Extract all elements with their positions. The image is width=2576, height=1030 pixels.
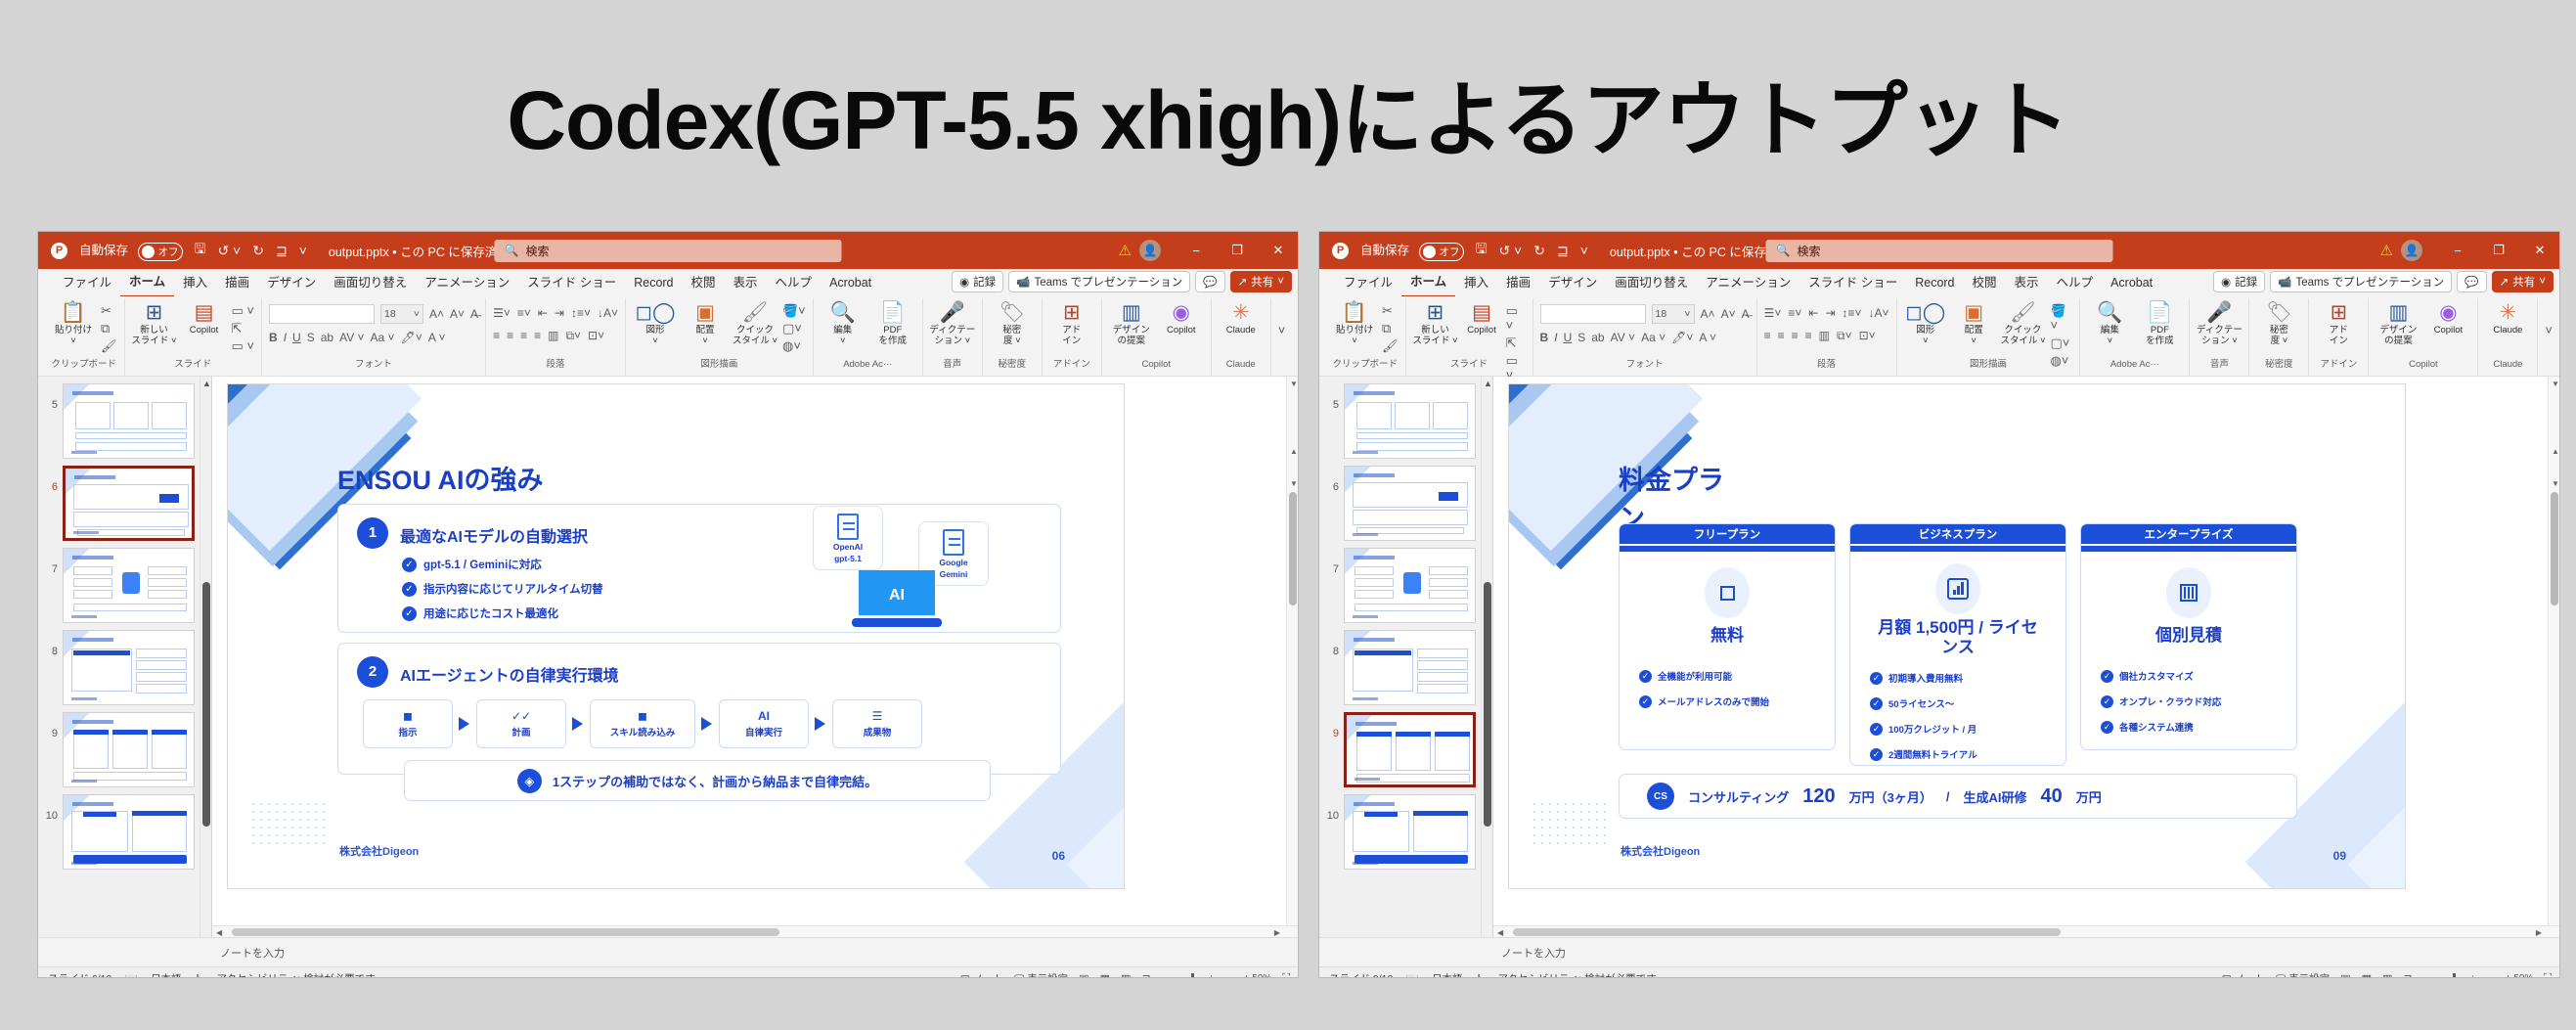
shadow-icon[interactable]: S	[307, 331, 315, 344]
bold-icon[interactable]: B	[269, 331, 278, 344]
scroll-handle[interactable]	[1484, 582, 1491, 827]
autosave-control[interactable]: 自動保存 オフ	[79, 240, 183, 260]
fit-slide-icon[interactable]: ⛶	[2544, 972, 2552, 978]
flow-step[interactable]: ✓✓ 計画	[476, 699, 566, 748]
design-ideas-button[interactable]: ▥ デザイン の提案	[1109, 301, 1154, 346]
autosave-toggle[interactable]: オフ	[1419, 243, 1464, 261]
bullet-text: 指示内容に応じてリアルタイム切替	[423, 581, 603, 597]
tab-acrobat[interactable]: Acrobat	[2102, 269, 2161, 296]
present-icon[interactable]: ⊒	[1557, 243, 1569, 259]
addins-label2: イン	[2330, 336, 2348, 346]
tab-design[interactable]: デザイン	[1539, 269, 1606, 296]
cut-icon[interactable]: ✂	[1382, 303, 1399, 318]
present-icon[interactable]: ⊒	[276, 243, 288, 259]
thumbnail-item[interactable]: 6	[38, 459, 211, 541]
slideshow-icon[interactable]: ⊒	[2403, 972, 2412, 978]
columns-icon[interactable]: ▥	[1819, 329, 1830, 343]
notes-pane-right[interactable]: ノートを入力	[1319, 937, 2559, 966]
shape-effects-icon[interactable]: ◍˅	[2050, 353, 2072, 368]
section-1-bullet[interactable]: ✓ 用途に応じたコスト最適化	[402, 605, 558, 621]
shape-effects-icon[interactable]: ◍˅	[782, 338, 806, 353]
thumbnail-preview[interactable]	[1344, 383, 1476, 459]
paste-button[interactable]: 📋 貼り付け ˅	[1332, 301, 1377, 346]
plan-card-enterprise[interactable]: エンタープライズ 個別見積 ✓ 個社カスタマイズ	[2080, 523, 2297, 750]
plan-feature-text: 個社カスタマイズ	[2119, 669, 2194, 683]
bullets-icon[interactable]: ☰˅	[493, 306, 511, 320]
language-indicator[interactable]: 日本語	[1432, 971, 1463, 978]
avatar[interactable]: 👤	[1139, 240, 1161, 261]
thumbnail-item[interactable]: 8	[1319, 623, 1492, 705]
minimize-button[interactable]: −	[2438, 232, 2477, 269]
scroll-up-icon[interactable]: ▲	[1484, 379, 1492, 388]
search-input[interactable]: 🔍 検索	[1766, 240, 2113, 262]
thumb-box	[152, 402, 187, 429]
align-text-icon[interactable]: ⊡˅	[1859, 329, 1876, 343]
paste-button[interactable]: 📋 貼り付け ˅	[51, 301, 96, 346]
text-direction-icon[interactable]: ↓A˅	[1869, 306, 1889, 320]
scroll-handle[interactable]	[202, 582, 210, 827]
notes-toggle-button[interactable]: ▤ ノート	[960, 971, 1003, 978]
record-button[interactable]: ◉ 記録	[2213, 271, 2265, 292]
sensitivity-button[interactable]: 🏷 秘密 度 ˅	[990, 301, 1035, 346]
thumbnail-item[interactable]: 9	[1319, 705, 1492, 787]
share-button[interactable]: ↗ 共有 ˅	[1230, 271, 1292, 292]
reading-view-icon[interactable]: ▥	[1121, 972, 1131, 978]
tab-animations[interactable]: アニメーション	[1697, 269, 1799, 296]
align-right-icon[interactable]: ≡	[520, 329, 527, 343]
columns-icon[interactable]: ▥	[548, 329, 558, 343]
autosave-control[interactable]: 自動保存 オフ	[1360, 240, 1464, 260]
tab-animations[interactable]: アニメーション	[416, 269, 518, 296]
language-indicator[interactable]: 日本語	[151, 971, 182, 978]
dictate-button[interactable]: 🎤 ディクテー ション ˅	[930, 301, 975, 346]
copy-icon[interactable]: ⧉	[101, 321, 117, 336]
tab-home[interactable]: ホーム	[120, 268, 174, 297]
text-highlight-icon[interactable]: 🖊˅	[401, 331, 422, 344]
shape-outline-icon[interactable]: ▢˅	[782, 321, 806, 336]
thumbnail-item[interactable]: 6	[1319, 459, 1492, 541]
align-text-icon[interactable]: ⊡˅	[588, 329, 604, 343]
customize-qat-icon[interactable]: ˅	[1580, 243, 1588, 258]
autosave-toggle[interactable]: オフ	[138, 243, 183, 261]
slide-thumbnail-panel-right[interactable]: 5 6	[1319, 377, 1493, 937]
layout-icon[interactable]: ▭ ˅	[1506, 303, 1526, 333]
slide-footer: 株式会社Digeon	[339, 843, 419, 859]
tab-design[interactable]: デザイン	[258, 269, 325, 296]
comments-button[interactable]: 💬	[1195, 271, 1224, 292]
stage-vertical-scrollbar[interactable]: ▼ ▲ ▼	[2548, 377, 2559, 937]
section-1-bullet[interactable]: ✓ 指示内容に応じてリアルタイム切替	[402, 581, 603, 597]
claude-button[interactable]: ✳ Claude	[1219, 301, 1264, 336]
strikethrough-icon[interactable]: ab	[1591, 331, 1604, 344]
copilot-slide-button[interactable]: ▤ Copilot	[1463, 301, 1501, 336]
copilot-slide-button[interactable]: ▤ Copilot	[182, 301, 227, 336]
new-slide-button[interactable]: ⊞ 新しい スライド ˅	[1413, 301, 1458, 346]
shape-outline-icon[interactable]: ▢˅	[2050, 336, 2072, 350]
line-spacing-icon[interactable]: ↕≡˅	[1843, 306, 1862, 320]
undo-icon[interactable]: ↺ ˅	[1498, 243, 1522, 259]
spellcheck-icon[interactable]: 📖	[1405, 972, 1419, 978]
design-ideas-button[interactable]: ▥ デザイン の提案	[2376, 301, 2421, 346]
section-1-heading[interactable]: 最適なAIモデルの自動選択	[400, 523, 588, 547]
shape-fill-icon[interactable]: 🪣˅	[2050, 303, 2072, 333]
accessibility-status[interactable]: アクセシビリティ: 検討が必要です	[1497, 971, 1656, 978]
zoom-level[interactable]: 59%	[2513, 973, 2533, 978]
plan-feature: ✓ 各種システム連携	[2101, 720, 2194, 734]
thumbnail-preview[interactable]	[63, 383, 195, 459]
text-highlight-icon[interactable]: 🖊˅	[1671, 331, 1693, 344]
callout-box[interactable]: ◈ 1ステップの補助ではなく、計画から納品まで自律完結。	[404, 760, 991, 801]
zoom-level[interactable]: 59%	[1252, 973, 1271, 978]
toggle-knob	[1423, 246, 1436, 258]
section-2-heading[interactable]: AIエージェントの自律実行環境	[400, 662, 619, 686]
font-name-input[interactable]	[269, 304, 375, 324]
warning-icon[interactable]: ⚠	[1119, 242, 1132, 259]
scroll-left-icon[interactable]: ◀	[1497, 928, 1503, 937]
copilot-slide-label: Copilot	[190, 325, 219, 336]
increase-indent-icon[interactable]: ⇥	[1825, 306, 1835, 320]
addins-button[interactable]: ⊞ アド イン	[2316, 301, 2361, 346]
tab-file[interactable]: ファイル	[54, 269, 120, 296]
thumb-box	[1355, 566, 1394, 575]
scroll-right-icon[interactable]: ▶	[2536, 928, 2542, 937]
thumbnail-preview-selected[interactable]	[63, 466, 195, 541]
underline-icon[interactable]: U	[1564, 331, 1573, 344]
plan-card-business[interactable]: ビジネスプラン 月額 1,500円 / ライセンス ✓	[1849, 523, 2066, 766]
ribbon-collapse-icon[interactable]: ˅	[1278, 301, 1286, 337]
maximize-button[interactable]: ❐	[1218, 232, 1257, 269]
font-color-icon[interactable]: A ˅	[1699, 331, 1716, 344]
thumbnail-item[interactable]: 10	[38, 787, 211, 870]
flow-arrow-icon	[701, 717, 712, 731]
thumbnail-item[interactable]: 8	[38, 623, 211, 705]
align-center-icon[interactable]: ≡	[1778, 329, 1785, 343]
cut-icon[interactable]: ✂	[101, 303, 117, 318]
plan-card-free[interactable]: フリープラン 無料 ✓ 全機能が利用可能 ✓ メールアドレスのみで開始	[1619, 523, 1836, 750]
tab-draw[interactable]: 描画	[216, 269, 258, 296]
tab-review[interactable]: 校閲	[683, 269, 725, 296]
group-label-slide: スライド	[1450, 359, 1488, 370]
slide-position[interactable]: スライド 9/10	[1329, 971, 1393, 978]
slideshow-icon[interactable]: ⊒	[1141, 972, 1150, 978]
ribbon-group-font: 18 ˅ A˄ A˅ A̶ B I U S ab AV ˅ A	[1533, 298, 1757, 376]
arrange-button[interactable]: ▣ 配置 ˅	[683, 301, 728, 346]
document-name[interactable]: output.pptx • この PC に保存済み	[1610, 242, 1791, 260]
addins-button[interactable]: ⊞ アド イン	[1049, 301, 1094, 346]
zoom-slider[interactable]: − + 59%	[1162, 973, 1272, 978]
fit-slide-icon[interactable]: ⛶	[1282, 972, 1290, 978]
flow-step[interactable]: ◼ 指示	[363, 699, 453, 748]
group-label-addins: アドイン	[1053, 359, 1090, 370]
thumb-box	[1353, 811, 1409, 852]
next-slide-icon[interactable]: ▼	[1290, 479, 1298, 488]
scroll-right-icon[interactable]: ▶	[1274, 928, 1280, 937]
notes-pane-left[interactable]: ノートを入力	[38, 937, 1298, 966]
decrease-font-icon[interactable]: A˅	[450, 307, 465, 321]
zoom-handle[interactable]	[2453, 973, 2456, 978]
stage-vertical-scrollbar[interactable]: ▼ ▲ ▼	[1286, 377, 1298, 937]
save-icon[interactable]: 🖫	[1476, 239, 1488, 262]
zoom-in-icon[interactable]: +	[1243, 973, 1249, 978]
thumbnail-item[interactable]: 5	[38, 377, 211, 459]
decrease-indent-icon[interactable]: ⇤	[538, 306, 548, 320]
tab-view[interactable]: 表示	[725, 269, 767, 296]
thumbnail-preview[interactable]	[1344, 466, 1476, 541]
display-settings-icon: 🖵	[1014, 973, 1024, 978]
create-pdf-button[interactable]: 📄 PDF を作成	[870, 301, 915, 346]
thumbnail-preview[interactable]	[63, 630, 195, 705]
zoom-slider[interactable]: − + 59%	[2423, 973, 2534, 978]
increase-indent-icon[interactable]: ⇥	[555, 306, 564, 320]
arrange-button[interactable]: ▣ 配置 ˅	[1952, 301, 1995, 346]
thumbnail-item[interactable]: 9	[38, 705, 211, 787]
format-painter-icon[interactable]: 🖌	[1382, 338, 1399, 353]
underline-icon[interactable]: U	[292, 331, 301, 344]
scroll-up-icon[interactable]: ▲	[202, 379, 211, 388]
italic-icon[interactable]: I	[1554, 331, 1557, 344]
numbering-icon[interactable]: ≡˅	[517, 306, 531, 320]
align-right-icon[interactable]: ≡	[1792, 329, 1799, 343]
thumbnail-preview-selected[interactable]	[1344, 712, 1476, 787]
flow-step[interactable]: ☰ 成果物	[832, 699, 922, 748]
reset-icon[interactable]: ⇱	[232, 321, 255, 336]
dictate-button[interactable]: 🎤 ディクテー ション ˅	[2197, 301, 2242, 346]
font-size-input[interactable]: 18 ˅	[380, 304, 423, 324]
tab-slideshow[interactable]: スライド ショー	[518, 269, 625, 296]
increase-font-icon[interactable]: A˄	[429, 307, 444, 321]
create-pdf-label2: を作成	[879, 336, 908, 346]
justify-icon[interactable]: ≡	[534, 329, 541, 343]
slide-sorter-icon[interactable]: ▦	[2362, 972, 2372, 978]
scroll-handle[interactable]	[1513, 928, 2061, 936]
stage-horizontal-scrollbar[interactable]: ◀ ▶	[1493, 925, 2559, 937]
thumb-box	[1433, 402, 1468, 429]
thumbnail-preview[interactable]	[1344, 548, 1476, 623]
document-name[interactable]: output.pptx • この PC に保存済み	[329, 242, 510, 260]
previous-slide-icon[interactable]: ▲	[1290, 447, 1298, 456]
layout-icon[interactable]: ▭ ˅	[232, 303, 255, 318]
sensitivity-button[interactable]: 🏷 秘密 度 ˅	[2256, 301, 2301, 346]
character-spacing-icon[interactable]: AV ˅	[339, 331, 364, 344]
slide-title[interactable]: ENSOU AIの強み	[337, 459, 544, 497]
create-pdf-icon: 📄	[2147, 301, 2172, 325]
thumbnail-scrollbar[interactable]: ▲	[1481, 377, 1492, 937]
edit-pdf-chevron: ˅	[840, 336, 846, 346]
strikethrough-icon[interactable]: ab	[321, 331, 333, 344]
previous-slide-icon[interactable]: ▲	[2552, 447, 2559, 456]
thumb-box	[73, 566, 112, 575]
teams-present-button[interactable]: 📹 Teams でプレゼンテーション	[1008, 271, 1190, 292]
customize-qat-icon[interactable]: ˅	[299, 243, 307, 258]
slide-stage-right[interactable]: 料金プラン フリープラン 無料 ✓ 全機能が利用可能	[1493, 377, 2559, 937]
character-spacing-icon[interactable]: AV ˅	[1611, 331, 1635, 344]
model-card-openai[interactable]: OpenAI gpt-5.1	[813, 506, 883, 570]
slide-thumbnail-panel-left[interactable]: 5 6	[38, 377, 212, 937]
thumbnail-preview[interactable]	[63, 794, 195, 870]
decrease-indent-icon[interactable]: ⇤	[1808, 306, 1818, 320]
save-icon[interactable]: 🖫	[195, 239, 206, 262]
tab-home[interactable]: ホーム	[1401, 268, 1455, 297]
tab-draw[interactable]: 描画	[1497, 269, 1539, 296]
thumbnail-preview[interactable]	[1344, 794, 1476, 870]
ribbon-collapse-icon[interactable]: ˅	[2545, 301, 2553, 337]
undo-icon[interactable]: ↺ ˅	[217, 243, 241, 259]
comments-button[interactable]: 💬	[2457, 271, 2486, 292]
display-settings-button[interactable]: 🖵 表示設定	[2276, 971, 2330, 978]
slide-canvas-right[interactable]: 料金プラン フリープラン 無料 ✓ 全機能が利用可能	[1509, 384, 2405, 888]
tab-acrobat[interactable]: Acrobat	[821, 269, 880, 296]
section-1-bullet[interactable]: ✓ gpt-5.1 / Geminiに対応	[402, 557, 542, 572]
group-label-acrobat: Adobe Ac···	[2110, 359, 2159, 370]
create-pdf-button[interactable]: 📄 PDF を作成	[2137, 301, 2182, 346]
scroll-handle[interactable]	[1289, 492, 1297, 605]
align-left-icon[interactable]: ≡	[493, 329, 500, 343]
redo-icon[interactable]: ↻	[1533, 243, 1545, 259]
thumbnail-preview[interactable]	[1344, 630, 1476, 705]
font-color-icon[interactable]: A ˅	[428, 331, 446, 344]
thumb-box	[1417, 649, 1468, 658]
tab-transitions[interactable]: 画面切り替え	[325, 269, 416, 296]
tab-insert[interactable]: 挿入	[1455, 269, 1497, 296]
tab-view[interactable]: 表示	[2006, 269, 2048, 296]
thumbnail-preview[interactable]	[63, 712, 195, 787]
normal-view-icon[interactable]: ▣	[2340, 972, 2350, 978]
thumbnail-item[interactable]: 10	[1319, 787, 1492, 870]
shapes-button[interactable]: ◻◯ 図形 ˅	[1904, 301, 1947, 346]
group-label-claude: Claude	[1226, 359, 1256, 370]
new-slide-button[interactable]: ⊞ 新しい スライド ˅	[132, 301, 177, 346]
scroll-up-icon[interactable]: ▼	[1290, 380, 1298, 388]
scroll-handle[interactable]	[232, 928, 779, 936]
normal-view-icon[interactable]: ▣	[1079, 972, 1088, 978]
thumb-box	[136, 660, 187, 670]
format-painter-icon[interactable]: 🖌	[101, 338, 117, 353]
claude-button[interactable]: ✳ Claude	[2485, 301, 2530, 336]
section-icon[interactable]: ▭ ˅	[232, 338, 255, 353]
change-case-icon[interactable]: Aa ˅	[371, 331, 395, 344]
warning-icon[interactable]: ⚠	[2380, 242, 2393, 259]
share-button[interactable]: ↗ 共有 ˅	[2492, 271, 2554, 292]
shadow-icon[interactable]: S	[1577, 331, 1585, 344]
quick-style-button[interactable]: 🖌 クイック スタイル ˅	[2000, 301, 2045, 346]
align-left-icon[interactable]: ≡	[1764, 329, 1771, 343]
thumbnail-preview[interactable]	[63, 548, 195, 623]
zoom-out-icon[interactable]: −	[2423, 973, 2429, 978]
smartart-icon[interactable]: ⧉˅	[1837, 329, 1852, 343]
teams-present-button[interactable]: 📹 Teams でプレゼンテーション	[2270, 271, 2452, 292]
consulting-bar[interactable]: CS コンサルティング 120 万円（3ヶ月） / 生成AI研修 40 万円	[1619, 774, 2297, 819]
bullets-icon[interactable]: ☰˅	[1764, 306, 1782, 320]
next-slide-icon[interactable]: ▼	[2552, 479, 2559, 488]
align-center-icon[interactable]: ≡	[507, 329, 513, 343]
quick-style-button[interactable]: 🖌 クイック スタイル ˅	[733, 301, 777, 346]
tab-transitions[interactable]: 画面切り替え	[1606, 269, 1697, 296]
minimize-button[interactable]: −	[1177, 232, 1216, 269]
copilot-button[interactable]: ◉ Copilot	[2425, 301, 2470, 336]
clear-formatting-icon[interactable]: A̶	[1742, 307, 1750, 321]
close-button[interactable]: ✕	[2520, 232, 2559, 269]
flow-step[interactable]: AI 自律実行	[719, 699, 809, 748]
scroll-up-icon[interactable]: ▼	[2552, 380, 2559, 388]
slide-canvas-left[interactable]: ENSOU AIの強み 1 最適なAIモデルの自動選択 ✓ gpt-5.1 / …	[228, 384, 1124, 888]
display-settings-button[interactable]: 🖵 表示設定	[1014, 971, 1068, 978]
increase-font-icon[interactable]: A˄	[1701, 307, 1715, 321]
reading-view-icon[interactable]: ▥	[2382, 972, 2392, 978]
zoom-handle[interactable]	[1191, 973, 1194, 978]
clear-formatting-icon[interactable]: A̶	[470, 307, 478, 321]
edit-pdf-button[interactable]: 🔍 編集 ˅	[821, 301, 866, 346]
shapes-icon: ◻◯	[1905, 301, 1945, 325]
justify-icon[interactable]: ≡	[1805, 329, 1812, 343]
tab-record[interactable]: Record	[1906, 269, 1963, 296]
avatar[interactable]: 👤	[2401, 240, 2422, 261]
thumbnail-item[interactable]: 5	[1319, 377, 1492, 459]
thumbnail-scrollbar[interactable]: ▲	[200, 377, 211, 937]
italic-icon[interactable]: I	[284, 331, 287, 344]
smartart-icon[interactable]: ⧉˅	[565, 329, 581, 343]
tab-record[interactable]: Record	[625, 269, 682, 296]
accessibility-status[interactable]: アクセシビリティ: 検討が必要です	[216, 971, 375, 978]
thumb-bar	[1396, 732, 1431, 737]
line-spacing-icon[interactable]: ↕≡˅	[571, 306, 591, 320]
record-button[interactable]: ◉ 記録	[952, 271, 1003, 292]
numbering-icon[interactable]: ≡˅	[1788, 306, 1801, 320]
decrease-font-icon[interactable]: A˅	[1721, 307, 1736, 321]
tab-slideshow[interactable]: スライド ショー	[1799, 269, 1906, 296]
redo-icon[interactable]: ↻	[252, 243, 264, 259]
ribbon-collapse-group: ˅	[1271, 298, 1293, 376]
thumbnail-item[interactable]: 7	[38, 541, 211, 623]
zoom-in-icon[interactable]: +	[2505, 973, 2510, 978]
tab-help[interactable]: ヘルプ	[2048, 269, 2103, 296]
thumb-title-bar	[1354, 556, 1395, 560]
zoom-out-icon[interactable]: −	[1162, 973, 1168, 978]
tab-help[interactable]: ヘルプ	[767, 269, 822, 296]
close-button[interactable]: ✕	[1259, 232, 1298, 269]
reset-icon[interactable]: ⇱	[1506, 336, 1526, 350]
notes-toggle-button[interactable]: ▤ ノート	[2222, 971, 2265, 978]
tab-review[interactable]: 校閲	[1964, 269, 2006, 296]
font-row-top: 18 ˅ A˄ A˅ A̶	[269, 304, 478, 324]
copilot-button[interactable]: ◉ Copilot	[1159, 301, 1204, 336]
spellcheck-icon[interactable]: 📖	[124, 972, 138, 978]
tab-file[interactable]: ファイル	[1335, 269, 1401, 296]
shape-fill-icon[interactable]: 🪣˅	[782, 303, 806, 318]
edit-pdf-button[interactable]: 🔍 編集 ˅	[2087, 301, 2132, 346]
text-direction-icon[interactable]: ↓A˅	[598, 306, 618, 320]
font-name-input[interactable]	[1540, 304, 1646, 324]
slide-stage-left[interactable]: ENSOU AIの強み 1 最適なAIモデルの自動選択 ✓ gpt-5.1 / …	[212, 377, 1298, 937]
slide-position[interactable]: スライド 6/10	[48, 971, 111, 978]
change-case-icon[interactable]: Aa ˅	[1641, 331, 1666, 344]
tab-insert[interactable]: 挿入	[174, 269, 216, 296]
scroll-handle[interactable]	[2551, 492, 2558, 605]
shapes-button[interactable]: ◻◯ 図形 ˅	[633, 301, 678, 346]
bold-icon[interactable]: B	[1540, 331, 1549, 344]
ribbon-group-slide: ⊞ 新しい スライド ˅ ▤ Copilot ▭ ˅ ⇱ ▭ ˅ スライド	[1406, 298, 1533, 376]
thumbnail-item[interactable]: 7	[1319, 541, 1492, 623]
flow-step[interactable]: ◼ スキル読み込み	[590, 699, 695, 748]
stage-horizontal-scrollbar[interactable]: ◀ ▶	[212, 925, 1298, 937]
font-size-input[interactable]: 18 ˅	[1652, 304, 1695, 324]
copy-icon[interactable]: ⧉	[1382, 321, 1399, 336]
scroll-left-icon[interactable]: ◀	[216, 928, 222, 937]
search-input[interactable]: 🔍 検索	[495, 240, 842, 262]
thumb-box	[132, 811, 187, 852]
edit-pdf-icon: 🔍	[830, 301, 856, 325]
slide-sorter-icon[interactable]: ▦	[1100, 972, 1110, 978]
maximize-button[interactable]: ❐	[2479, 232, 2518, 269]
